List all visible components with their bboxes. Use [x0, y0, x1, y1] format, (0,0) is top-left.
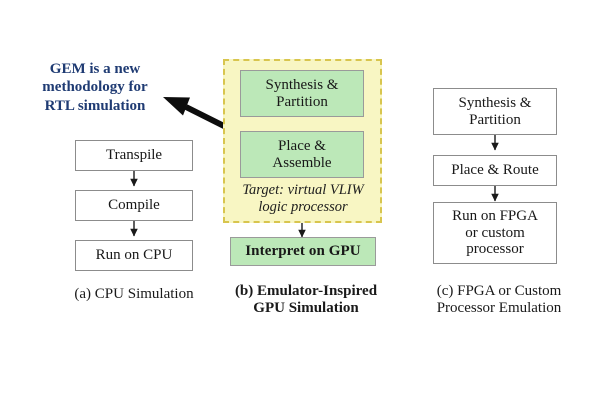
box-synthesis-partition-fpga[interactable]: Synthesis & Partition — [433, 88, 557, 135]
box-place-assemble[interactable]: Place & Assemble — [240, 131, 364, 178]
box-run-on-cpu[interactable]: Run on CPU — [75, 240, 193, 271]
callout-arrow — [163, 97, 228, 128]
box-place-and-route[interactable]: Place & Route — [433, 155, 557, 186]
box-transpile[interactable]: Transpile — [75, 140, 193, 171]
caption-column-a: (a) CPU Simulation — [36, 286, 232, 303]
box-compile[interactable]: Compile — [75, 190, 193, 221]
box-run-on-fpga[interactable]: Run on FPGA or custom processor — [433, 202, 557, 264]
figure-canvas: GEM is a new methodology for RTL simulat… — [0, 0, 600, 400]
caption-column-c: (c) FPGA or Custom Processor Emulation — [406, 283, 592, 318]
box-interpret-on-gpu[interactable]: Interpret on GPU — [230, 237, 376, 266]
gem-callout-text: GEM is a new methodology for RTL simulat… — [22, 60, 168, 115]
box-synthesis-partition-gpu[interactable]: Synthesis & Partition — [240, 70, 364, 117]
caption-column-b: (b) Emulator-Inspired GPU Simulation — [218, 283, 394, 318]
target-note-vliw: Target: virtual VLIW logic processor — [227, 182, 379, 215]
